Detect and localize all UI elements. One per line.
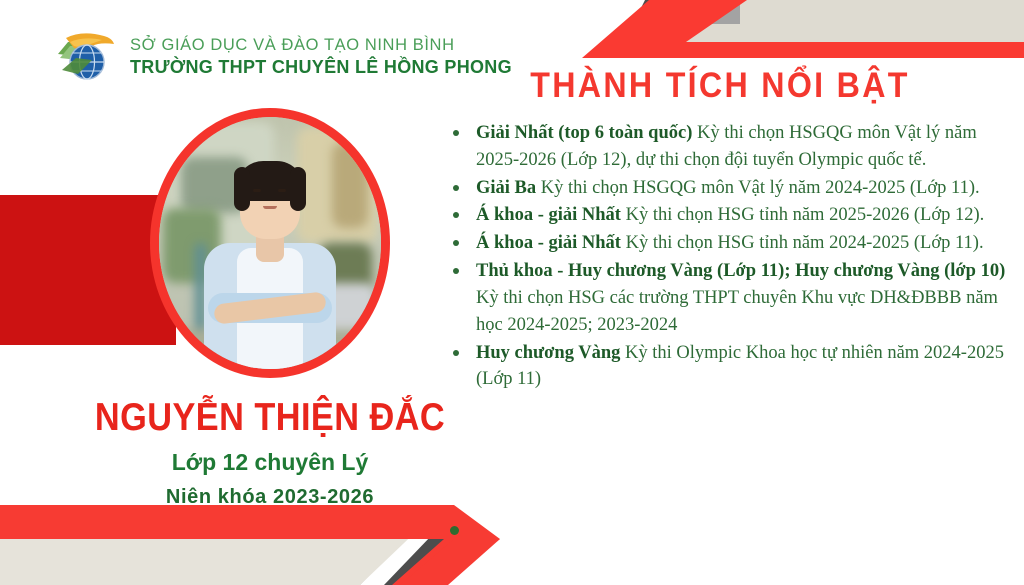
achievement-item: Giải Ba Kỳ thi chọn HSGQG môn Vật lý năm…	[430, 175, 1010, 202]
school-emblem-icon	[52, 26, 118, 88]
page-title: THÀNH TÍCH NỔI BẬT	[453, 66, 987, 106]
achievement-award-name: Thủ khoa - Huy chương Vàng (Lớp 11); Huy…	[476, 261, 1005, 281]
achievements-panel: THÀNH TÍCH NỔI BẬT Giải Nhất (top 6 toàn…	[430, 66, 1010, 394]
ribbon-bottom-cream	[0, 523, 500, 585]
achievement-detail: Kỳ thi chọn HSG tỉnh năm 2024-2025 (Lớp …	[621, 233, 984, 253]
ribbon-bottom-red-tail	[392, 539, 500, 585]
person-hair-left	[234, 167, 250, 211]
portrait-photo	[159, 117, 381, 369]
bullet-dot-icon	[453, 212, 459, 218]
ribbon-top-cream	[600, 0, 1024, 42]
bullet-dot-icon	[453, 185, 459, 191]
achievement-item: Giải Nhất (top 6 toàn quốc) Kỳ thi chọn …	[430, 120, 1010, 174]
ribbon-top-gray	[600, 0, 1024, 24]
student-info-block: NGUYỄN THIỆN ĐẮC Lớp 12 chuyên Lý Niên k…	[60, 398, 480, 509]
person-figure	[159, 117, 381, 369]
bullet-dot-icon	[453, 268, 459, 274]
achievement-award-name: Giải Nhất (top 6 toàn quốc)	[476, 123, 692, 143]
green-dot-accent-icon	[450, 526, 459, 535]
achievement-item: Huy chương Vàng Kỳ thi Olympic Khoa học …	[430, 340, 1010, 394]
ribbon-top-red-bar	[682, 42, 1024, 58]
achievement-award-name: Á khoa - giải Nhất	[476, 205, 621, 225]
achievement-poster: SỞ GIÁO DỤC VÀ ĐÀO TẠO NINH BÌNH TRƯỜNG …	[0, 0, 1024, 585]
person-eye-right	[278, 189, 286, 192]
achievement-list: Giải Nhất (top 6 toàn quốc) Kỳ thi chọn …	[430, 120, 1010, 393]
bullet-dot-icon	[453, 240, 459, 246]
achievement-item: Á khoa - giải Nhất Kỳ thi chọn HSG tỉnh …	[430, 202, 1010, 229]
student-portrait	[150, 108, 390, 378]
ribbon-top-dark-gray	[600, 0, 1024, 46]
achievement-item: Thủ khoa - Huy chương Vàng (Lớp 11); Huy…	[430, 258, 1010, 338]
student-name: NGUYỄN THIỆN ĐẮC	[85, 398, 455, 437]
achievement-award-name: Huy chương Vàng	[476, 343, 620, 363]
person-eye-left	[253, 189, 261, 192]
ribbon-bottom-dark-gray	[320, 535, 500, 585]
student-class: Lớp 12 chuyên Lý	[60, 449, 480, 476]
achievement-detail: Kỳ thi chọn HSG tỉnh năm 2025-2026 (Lớp …	[621, 205, 984, 225]
ribbon-bottom-gray	[0, 545, 480, 585]
achievement-detail: Kỳ thi chọn HSGQG môn Vật lý năm 2024-20…	[536, 178, 979, 198]
bullet-dot-icon	[453, 350, 459, 356]
portrait-red-ring	[150, 108, 390, 378]
achievement-item: Á khoa - giải Nhất Kỳ thi chọn HSG tỉnh …	[430, 230, 1010, 257]
ribbon-top-red	[545, 0, 1024, 58]
bullet-dot-icon	[453, 130, 459, 136]
achievement-detail: Kỳ thi chọn HSG các trường THPT chuyên K…	[476, 288, 998, 335]
ribbon-bottom-red	[0, 505, 500, 585]
student-school-years: Niên khóa 2023-2026	[60, 486, 480, 509]
achievement-award-name: Á khoa - giải Nhất	[476, 233, 621, 253]
department-name: SỞ GIÁO DỤC VÀ ĐÀO TẠO NINH BÌNH	[130, 37, 512, 55]
achievement-award-name: Giải Ba	[476, 178, 536, 198]
person-hair-right	[290, 167, 306, 211]
